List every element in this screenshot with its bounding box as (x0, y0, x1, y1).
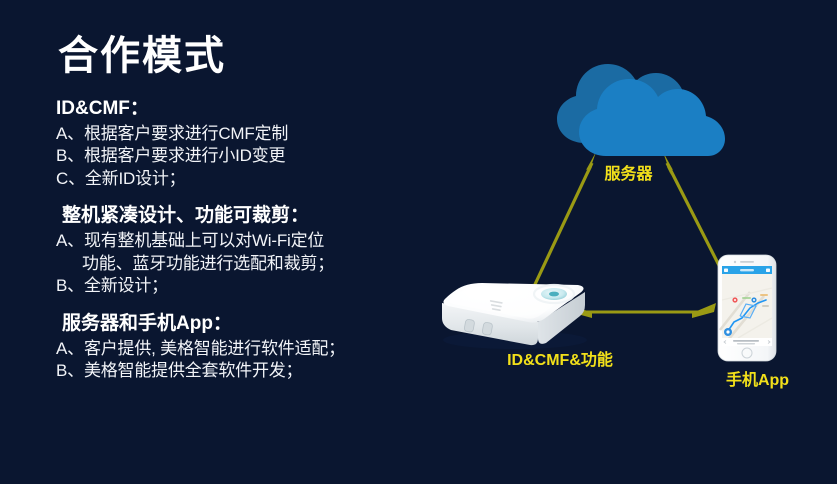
app-info-bar (722, 338, 772, 346)
content-column: 合作模式 ID&CMF： A、根据客户要求进行CMF定制 B、根据客户要求进行小… (56, 34, 436, 396)
architecture-diagram: 服务器 ID&CMF&功能 手机App (420, 0, 837, 484)
bullet-item: A、客户提供, 美格智能进行软件适配； (56, 338, 436, 361)
section-heading: 服务器和手机App： (62, 311, 436, 337)
diagram-canvas (420, 0, 837, 484)
bullet-item: B、全新设计； (56, 275, 436, 298)
section-server-app: 服务器和手机App： A、客户提供, 美格智能进行软件适配； B、美格智能提供全… (56, 311, 436, 383)
node-label-device: ID&CMF&功能 (420, 346, 700, 370)
section-heading: 整机紧凑设计、功能可裁剪： (62, 203, 436, 229)
bullet-item: A、现有整机基础上可以对Wi-Fi定位 (56, 230, 436, 253)
cloud-icon (557, 64, 725, 156)
section-heading: ID&CMF： (56, 96, 436, 122)
node-label-phone: 手机App (678, 366, 837, 390)
device-port (464, 319, 475, 332)
slide-canvas: 合作模式 ID&CMF： A、根据客户要求进行CMF定制 B、根据客户要求进行小… (0, 0, 837, 484)
page-title: 合作模式 (58, 34, 436, 78)
bullet-item: C、全新ID设计； (56, 168, 436, 191)
smartphone-map-icon (718, 255, 776, 361)
map-content (720, 274, 772, 340)
section-id-cmf: ID&CMF： A、根据客户要求进行CMF定制 B、根据客户要求进行小ID变更 … (56, 96, 436, 190)
device-port (482, 322, 493, 335)
phone-camera (734, 261, 736, 263)
bullet-item-continued: 功能、蓝牙功能进行选配和裁剪； (56, 253, 436, 276)
phone-earpiece (740, 261, 754, 263)
section-compact-design: 整机紧凑设计、功能可裁剪： A、现有整机基础上可以对Wi-Fi定位 功能、蓝牙功… (56, 203, 436, 297)
bullet-item: B、美格智能提供全套软件开发； (56, 360, 436, 383)
bullet-item: B、根据客户要求进行小ID变更 (56, 145, 436, 168)
gateway-device-icon (442, 283, 587, 349)
bullet-item: A、根据客户要求进行CMF定制 (56, 123, 436, 146)
node-label-server: 服务器 (420, 160, 837, 184)
connection-device-to-phone (568, 303, 716, 318)
